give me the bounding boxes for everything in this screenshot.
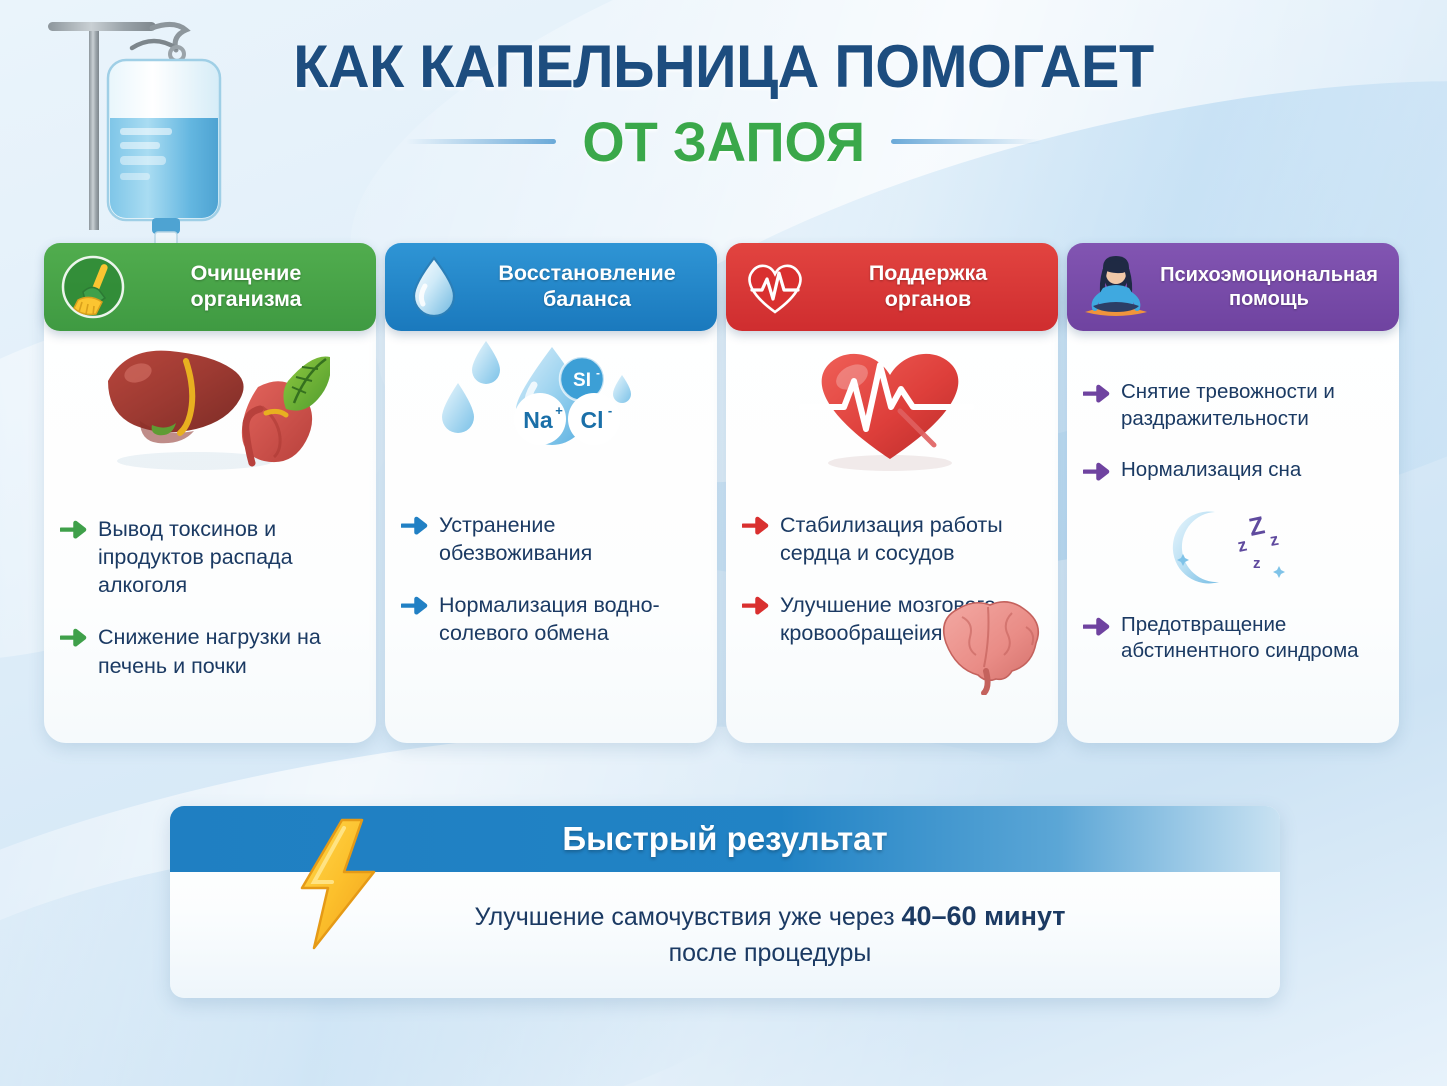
banner-line-1: Улучшение самочувствия уже через 40–60 м… bbox=[320, 898, 1220, 935]
arrow-right-icon bbox=[742, 596, 769, 615]
arrow-right-icon bbox=[1083, 462, 1110, 481]
card-header: Очищениеорганизма bbox=[44, 243, 376, 331]
bullet-item: Устранение обезвоживания bbox=[401, 511, 703, 567]
bullet-item: Нормализация сна bbox=[1083, 457, 1385, 484]
banner-line-2: после процедуры bbox=[320, 939, 1220, 968]
card-organs: Поддержкаорганов bbox=[726, 243, 1058, 743]
svg-text:z: z bbox=[1236, 534, 1249, 555]
meditating-woman-icon bbox=[1079, 250, 1153, 324]
card-title: Восстановлениебаланса bbox=[471, 261, 707, 313]
bullet-item: Вывод токсинов и іпродуктов распада алко… bbox=[60, 515, 362, 599]
bullet-text: Снятие тревожности и раздражительности bbox=[1121, 379, 1385, 433]
card-psycho: Психоэмоциональнаяпомощь Снятие тревожно… bbox=[1067, 243, 1399, 743]
arrow-right-icon bbox=[401, 516, 428, 535]
sleeping-moon-illustration: Z z z z bbox=[1083, 502, 1385, 594]
card-bullets: Снятие тревожности и раздражительности Н… bbox=[1083, 379, 1385, 689]
page-subtitle: ОТ ЗАПОЯ bbox=[582, 109, 865, 174]
ion-label-3: Cl bbox=[581, 407, 604, 433]
lightning-bolt-icon bbox=[288, 816, 384, 952]
infographic-canvas: КАК КАПЕЛЬНИЦА ПОМОГАЕТ ОТ ЗАПОЯ bbox=[0, 0, 1447, 1086]
card-title: Поддержкаорганов bbox=[812, 261, 1048, 313]
ion-label-2: Na bbox=[523, 407, 553, 433]
svg-text:z: z bbox=[1268, 529, 1280, 549]
bullet-text: Нормализация сна bbox=[1121, 457, 1301, 484]
banner-title: Быстрый результат bbox=[562, 820, 887, 858]
banner-text-prefix: Улучшение самочувствия уже через bbox=[474, 903, 901, 931]
card-cleansing: Очищениеорганизма bbox=[44, 243, 376, 743]
bullet-item: Предотвращение абстинентного синдрома bbox=[1083, 612, 1385, 666]
card-header: Психоэмоциональнаяпомощь bbox=[1067, 243, 1399, 331]
bullet-text: Предотвращение абстинентного синдрома bbox=[1121, 612, 1385, 666]
card-title: Психоэмоциональнаяпомощь bbox=[1153, 263, 1389, 311]
liver-kidney-leaf-illustration bbox=[44, 329, 376, 479]
bullet-text: Снижение нагрузки на печень и почки bbox=[98, 623, 362, 679]
card-header: Поддержкаорганов bbox=[726, 243, 1058, 331]
heart-pulse-icon bbox=[738, 250, 812, 324]
svg-text:-: - bbox=[596, 366, 600, 380]
svg-text:-: - bbox=[608, 403, 612, 418]
divider-left bbox=[406, 139, 556, 144]
card-title: Очищениеорганизма bbox=[130, 261, 366, 313]
card-header: Восстановлениебаланса bbox=[385, 243, 717, 331]
banner-duration: 40–60 минут bbox=[901, 901, 1065, 931]
bullet-text: Вывод токсинов и іпродуктов распада алко… bbox=[98, 515, 362, 599]
card-bullets: Устранение обезвоживания Нормализация во… bbox=[401, 511, 703, 672]
arrow-right-icon bbox=[60, 628, 87, 647]
arrow-right-icon bbox=[742, 516, 769, 535]
water-drop-icon bbox=[397, 250, 471, 324]
broom-icon bbox=[56, 250, 130, 324]
page-title: КАК КАПЕЛЬНИЦА ПОМОГАЕТ bbox=[29, 36, 1418, 97]
svg-text:+: + bbox=[555, 403, 563, 418]
electrolyte-drops-illustration: SI - Na + Cl - bbox=[385, 329, 717, 479]
arrow-right-icon bbox=[60, 520, 87, 539]
benefit-cards: Очищениеорганизма bbox=[44, 243, 1416, 743]
bullet-text: Устранение обезвоживания bbox=[439, 511, 703, 567]
card-bullets: Вывод токсинов и іпродуктов распада алко… bbox=[60, 515, 362, 704]
title-block: КАК КАПЕЛЬНИЦА ПОМОГАЕТ ОТ ЗАПОЯ bbox=[0, 36, 1447, 174]
heart-cardiogram-illustration bbox=[726, 329, 1058, 479]
bullet-text: Стабилизация работы сердца и сосудов bbox=[780, 511, 1044, 567]
svg-text:z: z bbox=[1253, 555, 1261, 572]
svg-text:Z: Z bbox=[1246, 511, 1267, 542]
bullet-item: Снижение нагрузки на печень и почки bbox=[60, 623, 362, 679]
ion-label-1: SI bbox=[573, 370, 591, 391]
bullet-item: Нормализация водно-солевого обмена bbox=[401, 591, 703, 647]
bullet-item: Стабилизация работы сердца и сосудов bbox=[742, 511, 1044, 567]
brain-illustration bbox=[930, 591, 1052, 695]
arrow-right-icon bbox=[1083, 617, 1110, 636]
card-balance: Восстановлениебаланса bbox=[385, 243, 717, 743]
bullet-item: Снятие тревожности и раздражительности bbox=[1083, 379, 1385, 433]
subtitle-row: ОТ ЗАПОЯ bbox=[0, 109, 1447, 174]
arrow-right-icon bbox=[401, 596, 428, 615]
divider-right bbox=[891, 139, 1041, 144]
arrow-right-icon bbox=[1083, 384, 1110, 403]
bullet-text: Нормализация водно-солевого обмена bbox=[439, 591, 703, 647]
